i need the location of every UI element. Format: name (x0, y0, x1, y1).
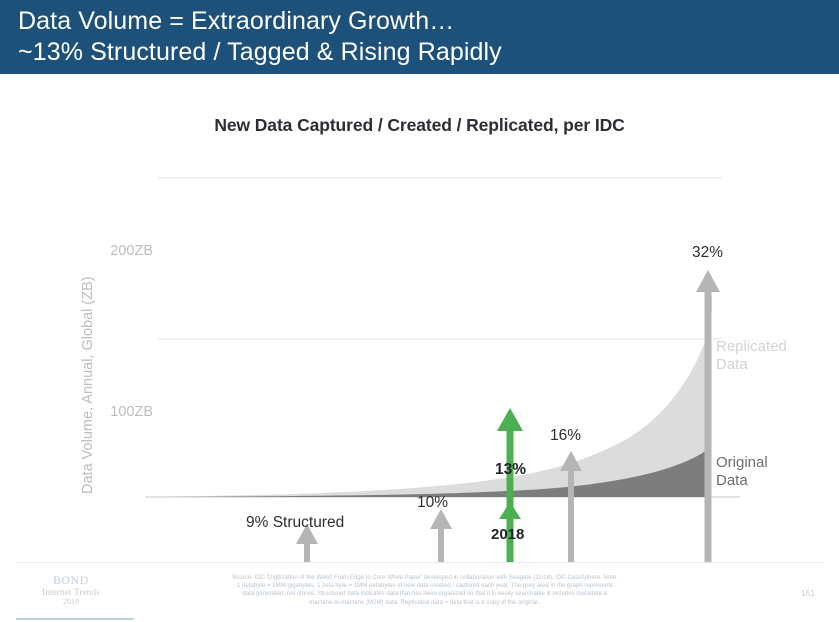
y-tick-100zb: 100ZB (98, 404, 153, 420)
footer-divider (16, 562, 823, 563)
bond-logo-year: 2019 (16, 597, 126, 606)
bond-logo-underline (16, 618, 134, 620)
series-replicated-area (158, 272, 712, 497)
area-chart-plot (0, 74, 839, 562)
callout-2025-label: 32% (692, 244, 723, 262)
slide-footer: Source: IDC 'Digitization of the World F… (0, 562, 839, 622)
page-title: Data Volume = Extraordinary Growth… ~13%… (18, 6, 818, 68)
source-note: Source: IDC 'Digitization of the World F… (145, 574, 705, 607)
callout-2015-label: 10% (417, 494, 448, 512)
annotation-arrow-2020 (560, 451, 582, 562)
callout-2020-label: 16% (550, 427, 581, 445)
chart-container: New Data Captured / Created / Replicated… (0, 74, 839, 562)
annotation-arrow-2018-axis (499, 502, 521, 519)
highlight-year-label: 2018 (491, 526, 524, 543)
bond-logo-subtitle: Internet Trends (16, 587, 126, 597)
bond-logo: BOND Internet Trends 2019 (16, 575, 126, 606)
slide-header-banner: Data Volume = Extraordinary Growth… ~13%… (0, 0, 839, 74)
callout-2018-label: 13% (495, 461, 526, 479)
callout-2010-label: 9% Structured (246, 514, 344, 532)
bond-logo-name: BOND (16, 575, 126, 587)
y-tick-200zb: 200ZB (98, 243, 153, 259)
series-label-original: Original Data (716, 454, 768, 490)
series-label-replicated: Replicated Data (716, 338, 787, 374)
annotation-arrow-2015 (430, 509, 452, 562)
y-axis-title: Data Volume, Annual, Global (ZB) (80, 276, 96, 494)
page-number: 151 (801, 588, 815, 598)
